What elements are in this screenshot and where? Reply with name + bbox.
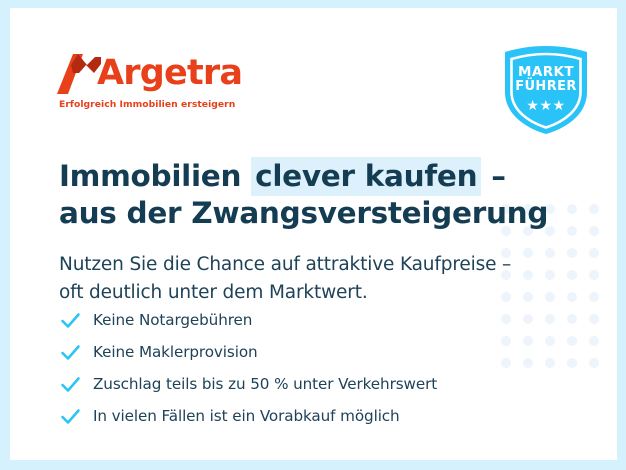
dot bbox=[567, 358, 577, 368]
dot bbox=[567, 270, 577, 280]
dot bbox=[545, 336, 555, 346]
logo-wordmark: Argetra bbox=[97, 53, 242, 93]
dot bbox=[523, 248, 533, 258]
dot bbox=[589, 358, 599, 368]
dot bbox=[523, 270, 533, 280]
list-item-label: Keine Notargebühren bbox=[93, 311, 252, 329]
list-item: Keine Maklerprovision bbox=[60, 337, 437, 367]
dot bbox=[545, 248, 555, 258]
dot bbox=[589, 314, 599, 324]
page-title: Immobilien clever kaufen – aus der Zwang… bbox=[59, 158, 548, 232]
market-leader-badge: MARKT FÜHRER ★★★ bbox=[499, 44, 593, 136]
list-item: Keine Notargebühren bbox=[60, 305, 437, 335]
dot bbox=[545, 270, 555, 280]
dot bbox=[589, 336, 599, 346]
dot bbox=[589, 226, 599, 236]
list-item: In vielen Fällen ist ein Vorabkauf mögli… bbox=[60, 401, 437, 431]
subtitle: Nutzen Sie die Chance auf attraktive Kau… bbox=[59, 251, 511, 307]
list-item-label: Zuschlag teils bis zu 50 % unter Verkehr… bbox=[93, 375, 437, 393]
dot bbox=[523, 292, 533, 302]
dot bbox=[523, 314, 533, 324]
list-item-label: Keine Maklerprovision bbox=[93, 343, 258, 361]
dot bbox=[589, 270, 599, 280]
badge-stars: ★★★ bbox=[499, 98, 593, 112]
dot bbox=[567, 248, 577, 258]
check-icon bbox=[60, 310, 81, 331]
dot bbox=[501, 336, 511, 346]
headline-line-2: aus der Zwangsversteigerung bbox=[59, 196, 548, 230]
headline-line-1: Immobilien clever kaufen – bbox=[59, 157, 506, 196]
dot bbox=[501, 358, 511, 368]
badge-line-1: MARKT bbox=[499, 64, 593, 80]
badge-line-2: FÜHRER bbox=[499, 79, 593, 94]
promo-banner: Argetra Erfolgreich Immobilien ersteiger… bbox=[0, 0, 626, 470]
headline-suffix: – bbox=[481, 159, 505, 193]
logo-row: Argetra bbox=[57, 44, 247, 94]
dot bbox=[567, 314, 577, 324]
list-item-label: In vielen Fällen ist ein Vorabkauf mögli… bbox=[93, 407, 400, 425]
dot bbox=[567, 204, 577, 214]
dot bbox=[589, 292, 599, 302]
benefits-list: Keine Notargebühren Keine Maklerprovisio… bbox=[60, 305, 437, 433]
check-icon bbox=[60, 406, 81, 427]
subtitle-line-1: Nutzen Sie die Chance auf attraktive Kau… bbox=[59, 254, 511, 275]
brand-logo[interactable]: Argetra Erfolgreich Immobilien ersteiger… bbox=[57, 44, 247, 94]
dot bbox=[545, 292, 555, 302]
list-item: Zuschlag teils bis zu 50 % unter Verkehr… bbox=[60, 369, 437, 399]
dot bbox=[567, 226, 577, 236]
subtitle-line-2: oft deutlich unter dem Marktwert. bbox=[59, 282, 368, 303]
dot bbox=[567, 292, 577, 302]
dot bbox=[523, 358, 533, 368]
dot bbox=[501, 314, 511, 324]
dot bbox=[545, 314, 555, 324]
dot bbox=[589, 204, 599, 214]
check-icon bbox=[60, 374, 81, 395]
check-icon bbox=[60, 342, 81, 363]
logo-tagline: Erfolgreich Immobilien ersteigern bbox=[59, 99, 235, 110]
dot bbox=[567, 336, 577, 346]
argetra-a-roof-logo-icon bbox=[57, 54, 101, 94]
headline-prefix: Immobilien bbox=[59, 159, 251, 193]
dot bbox=[589, 248, 599, 258]
headline-highlight: clever kaufen bbox=[251, 157, 481, 196]
dot bbox=[545, 358, 555, 368]
dot bbox=[523, 336, 533, 346]
banner-canvas: Argetra Erfolgreich Immobilien ersteiger… bbox=[10, 8, 617, 460]
